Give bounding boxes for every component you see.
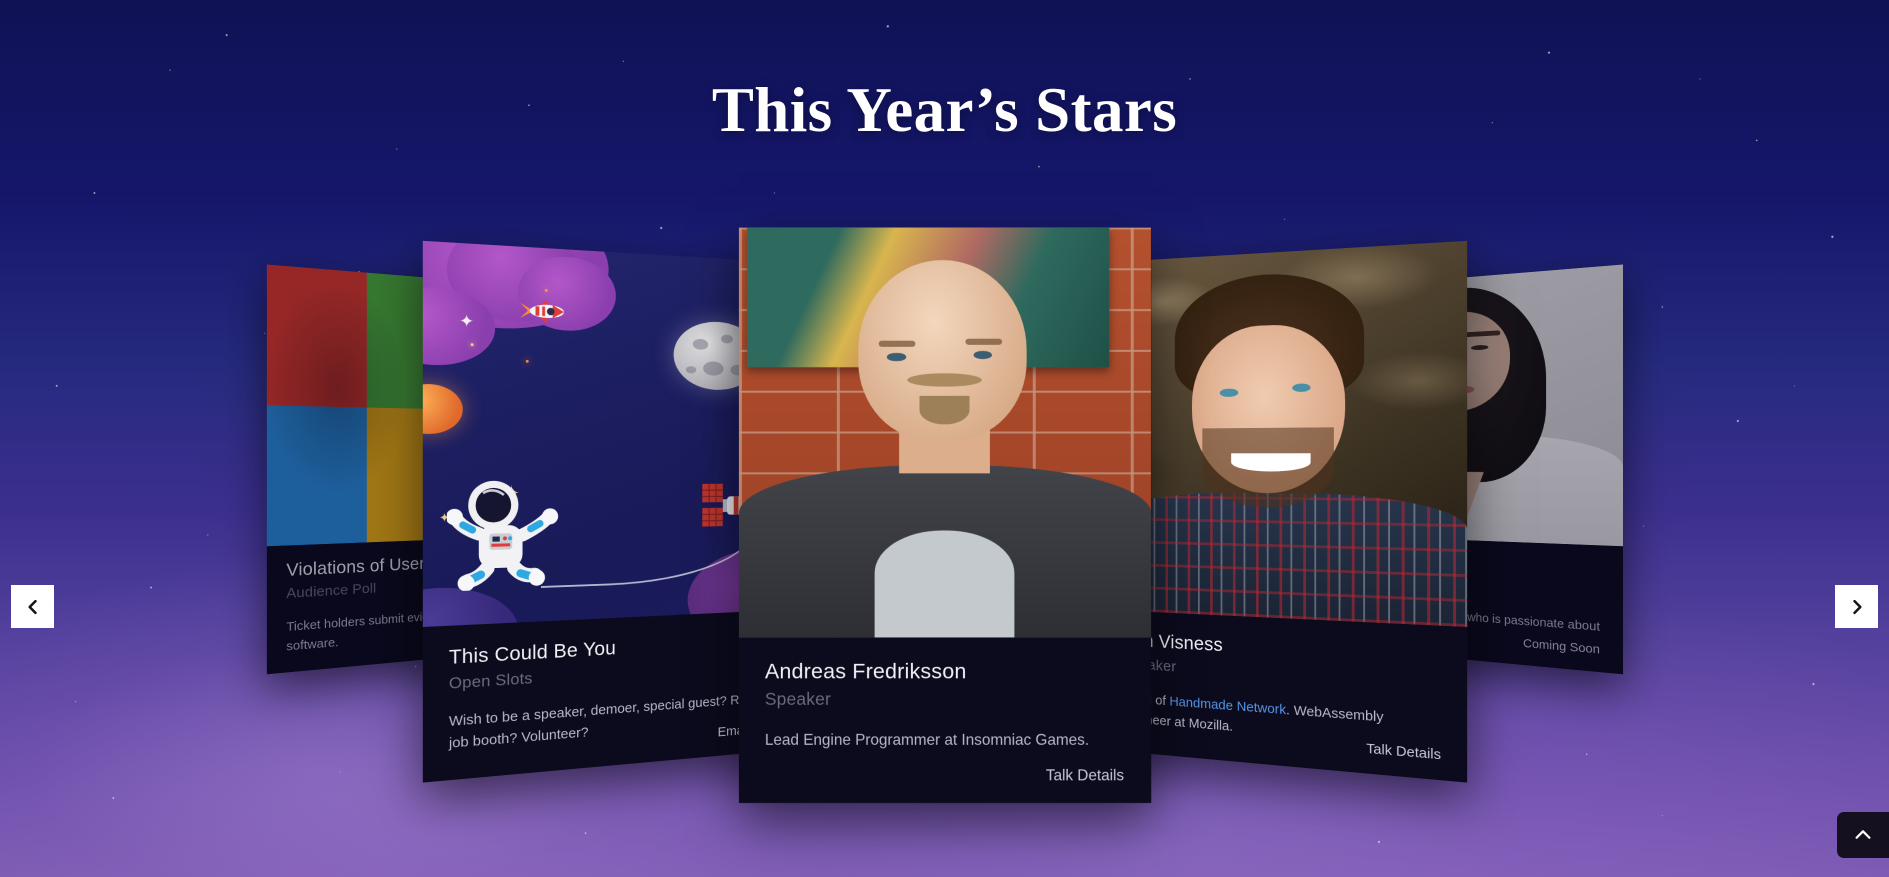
page-title: This Year’s Stars [0,74,1889,147]
moon-crater [721,335,733,344]
orange-planet [422,383,462,434]
carousel-card-active[interactable]: Andreas Fredriksson Speaker Lead Engine … [738,227,1150,803]
andreas-portrait-photo [738,227,1150,637]
glow-dot [525,360,528,363]
handmade-network-link[interactable]: Handmade Network [1169,694,1286,718]
card-role: Speaker [765,690,1124,710]
nebula-cloud [422,585,517,627]
eyebrow [879,340,916,347]
chevron-right-icon [1847,597,1867,617]
goatee [920,396,969,425]
chevron-left-icon [23,597,43,617]
card-description-text: Wish to be a speaker, demoer, special gu… [448,691,766,752]
plaid-shirt [1100,492,1466,627]
card-body: Andreas Fredriksson Speaker Lead Engine … [738,638,1150,803]
glow-dot [471,343,474,346]
scroll-to-top-button[interactable] [1837,812,1889,858]
card-media: ✦ ✦ ✦ [422,241,788,627]
card-media [738,227,1150,637]
page-root: This Year’s Stars ⓘ ⚙ ⌗ ▣ ⊡ ◧ Ⓢ ▤ ◨ ⊞ ⌘ … [0,0,1889,877]
t-shirt [874,531,1014,638]
card-description: Wish to be a speaker, demoer, special gu… [448,688,767,755]
astronaut-icon [447,476,571,592]
card-media [1100,241,1466,627]
moon-crater [692,339,708,350]
card-description: Lead Engine Programmer at Insomniac Game… [765,728,1124,752]
card-description-text: Lead Engine Programmer at Insomniac Game… [765,732,1089,749]
rocket-icon [514,288,571,335]
card-cta-link[interactable]: Talk Details [1046,767,1124,784]
eye [1220,388,1238,397]
carousel-card[interactable]: ✦ ✦ ✦ [422,241,788,783]
card-body: This Could Be You Open Slots Wish to be … [422,610,788,783]
chevron-up-icon [1852,824,1874,846]
carousel-next-button[interactable] [1835,585,1878,628]
sparkle-icon: ✦ [459,312,474,332]
carousel-card[interactable]: Ben Visness Speaker Head of Handmade Net… [1100,241,1466,783]
eyebrow [965,338,1002,345]
ben-portrait-photo [1100,241,1466,627]
moon-crater [703,361,724,376]
card-body: Ben Visness Speaker Head of Handmade Net… [1100,610,1466,783]
silhouette-shape [266,280,402,512]
carousel-prev-button[interactable] [11,585,54,628]
card-title: Andreas Fredriksson [765,660,1124,684]
astronaut-space-illustration: ✦ ✦ ✦ [422,241,788,627]
moon-crater [685,366,695,374]
